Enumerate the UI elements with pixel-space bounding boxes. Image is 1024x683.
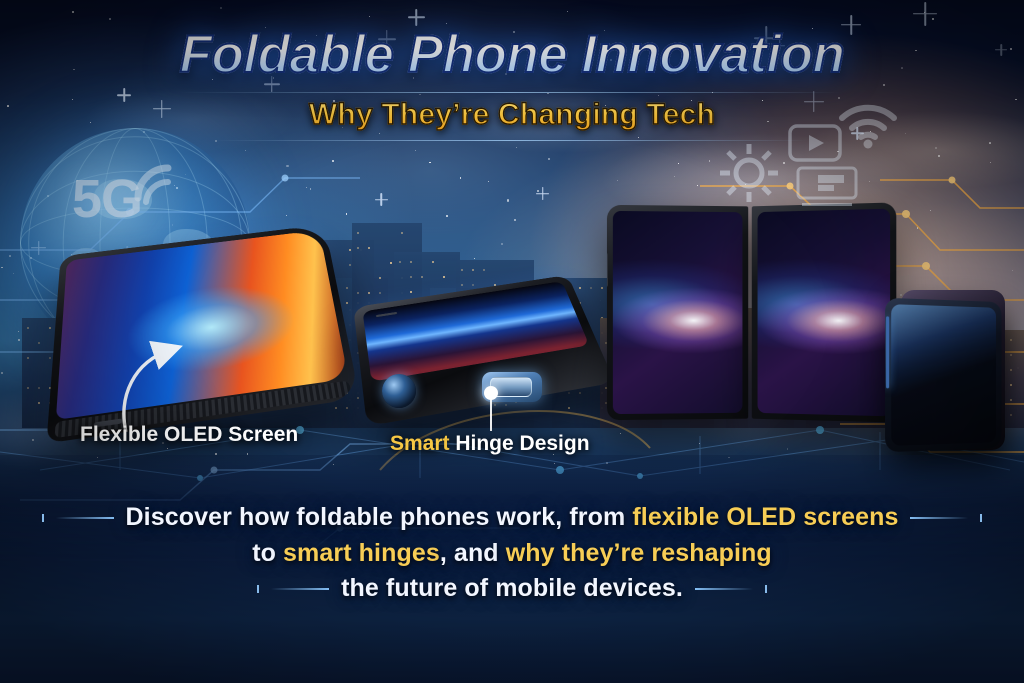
line3-rule-right: [695, 588, 753, 590]
line1-tick-left: [42, 514, 44, 522]
line3-rule-left: [271, 588, 329, 590]
poster-canvas: 5G: [0, 0, 1024, 683]
desc-l1-a: Discover how foldable phones work, from: [126, 503, 633, 531]
description-block: Discover how foldable phones work, from …: [0, 500, 1024, 607]
description-line-3: the future of mobile devices.: [0, 571, 1024, 607]
desc-l2-b: smart hinges: [283, 539, 440, 567]
desc-l2-d: why they’re reshaping: [506, 539, 772, 567]
desc-l2-a: to: [252, 539, 283, 567]
description-line-1: Discover how foldable phones work, from …: [0, 500, 1024, 536]
desc-l1-b: flexible OLED screens: [632, 503, 898, 531]
description-line-2: to smart hinges, and why they’re reshapi…: [0, 536, 1024, 572]
line1-rule-left: [56, 517, 114, 519]
line3-tick-left: [257, 585, 259, 593]
desc-l2-c: , and: [440, 539, 506, 567]
line1-tick-right: [980, 514, 982, 522]
desc-l3: the future of mobile devices.: [341, 574, 683, 602]
line3-tick-right: [765, 585, 767, 593]
line1-rule-right: [910, 517, 968, 519]
